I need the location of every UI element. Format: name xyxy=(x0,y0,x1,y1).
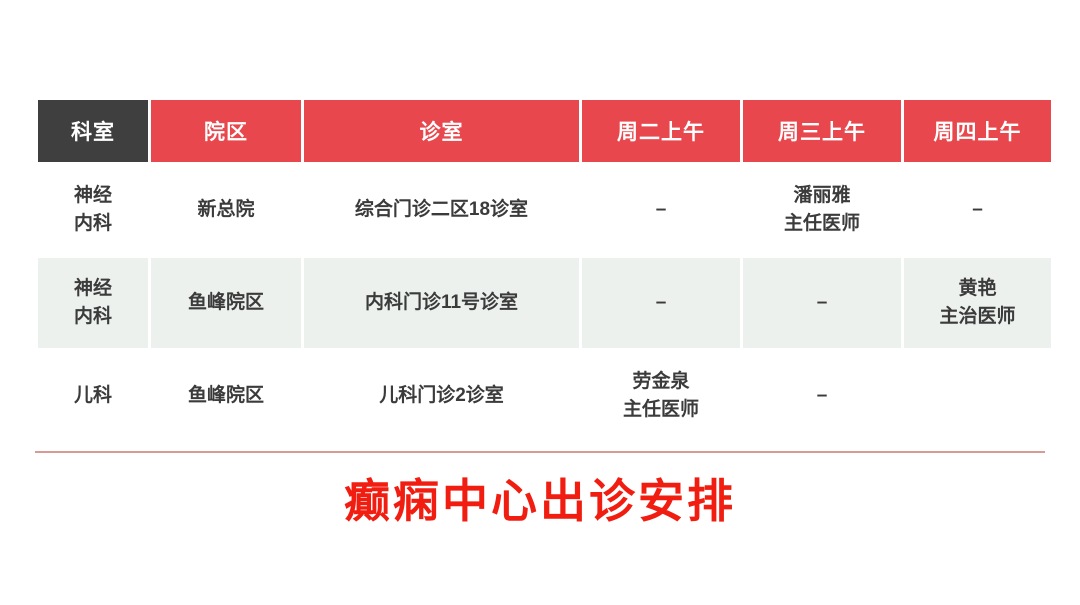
table-row: 神经 内科 新总院 综合门诊二区18诊室 – 潘丽雅 主任医师 – xyxy=(38,165,1051,255)
column-header-room: 诊室 xyxy=(304,100,579,162)
department-line-1: 神经 xyxy=(38,182,148,210)
cell-campus: 鱼峰院区 xyxy=(151,351,301,441)
table-header: 科室 院区 诊室 周二上午 周三上午 周四上午 xyxy=(38,100,1051,162)
table-row: 儿科 鱼峰院区 儿科门诊2诊室 劳金泉 主任医师 – xyxy=(38,351,1051,441)
table-header-row: 科室 院区 诊室 周二上午 周三上午 周四上午 xyxy=(38,100,1051,162)
divider-rule xyxy=(35,451,1045,453)
outpatient-schedule-table: 科室 院区 诊室 周二上午 周三上午 周四上午 神经 内科 新总院 综合门诊二区… xyxy=(35,97,1054,444)
doctor-name: – xyxy=(582,196,740,224)
cell-department: 神经 内科 xyxy=(38,258,148,348)
doctor-name: – xyxy=(743,289,901,317)
department-line-2: 内科 xyxy=(38,210,148,238)
doctor-name: – xyxy=(743,382,901,410)
cell-room: 内科门诊11号诊室 xyxy=(304,258,579,348)
cell-campus: 鱼峰院区 xyxy=(151,258,301,348)
cell-wednesday-morning: – xyxy=(743,258,901,348)
cell-thursday-morning: – xyxy=(904,165,1051,255)
table-body: 神经 内科 新总院 综合门诊二区18诊室 – 潘丽雅 主任医师 – xyxy=(38,165,1051,441)
doctor-name: 劳金泉 xyxy=(582,368,740,396)
department-line-1: 儿科 xyxy=(38,382,148,410)
cell-tuesday-morning: – xyxy=(582,258,740,348)
cell-thursday-morning xyxy=(904,351,1051,441)
cell-department: 儿科 xyxy=(38,351,148,441)
column-header-thursday-morning: 周四上午 xyxy=(904,100,1051,162)
column-header-department: 科室 xyxy=(38,100,148,162)
cell-department: 神经 内科 xyxy=(38,165,148,255)
doctor-name: 潘丽雅 xyxy=(743,182,901,210)
doctor-name: – xyxy=(904,196,1051,224)
department-line-2: 内科 xyxy=(38,303,148,331)
table-row: 神经 内科 鱼峰院区 内科门诊11号诊室 – – 黄艳 主治医师 xyxy=(38,258,1051,348)
column-header-campus: 院区 xyxy=(151,100,301,162)
cell-room: 儿科门诊2诊室 xyxy=(304,351,579,441)
column-header-wednesday-morning: 周三上午 xyxy=(743,100,901,162)
cell-campus: 新总院 xyxy=(151,165,301,255)
page-title: 癫痫中心出诊安排 xyxy=(0,476,1080,527)
cell-room: 综合门诊二区18诊室 xyxy=(304,165,579,255)
cell-thursday-morning: 黄艳 主治医师 xyxy=(904,258,1051,348)
doctor-title: 主任医师 xyxy=(582,396,740,424)
doctor-title: 主治医师 xyxy=(904,303,1051,331)
department-line-1: 神经 xyxy=(38,275,148,303)
cell-tuesday-morning: – xyxy=(582,165,740,255)
cell-tuesday-morning: 劳金泉 主任医师 xyxy=(582,351,740,441)
column-header-tuesday-morning: 周二上午 xyxy=(582,100,740,162)
doctor-name: – xyxy=(582,289,740,317)
doctor-title: 主任医师 xyxy=(743,210,901,238)
doctor-name: 黄艳 xyxy=(904,275,1051,303)
cell-wednesday-morning: 潘丽雅 主任医师 xyxy=(743,165,901,255)
schedule-poster: 科室 院区 诊室 周二上午 周三上午 周四上午 神经 内科 新总院 综合门诊二区… xyxy=(0,0,1080,605)
cell-wednesday-morning: – xyxy=(743,351,901,441)
